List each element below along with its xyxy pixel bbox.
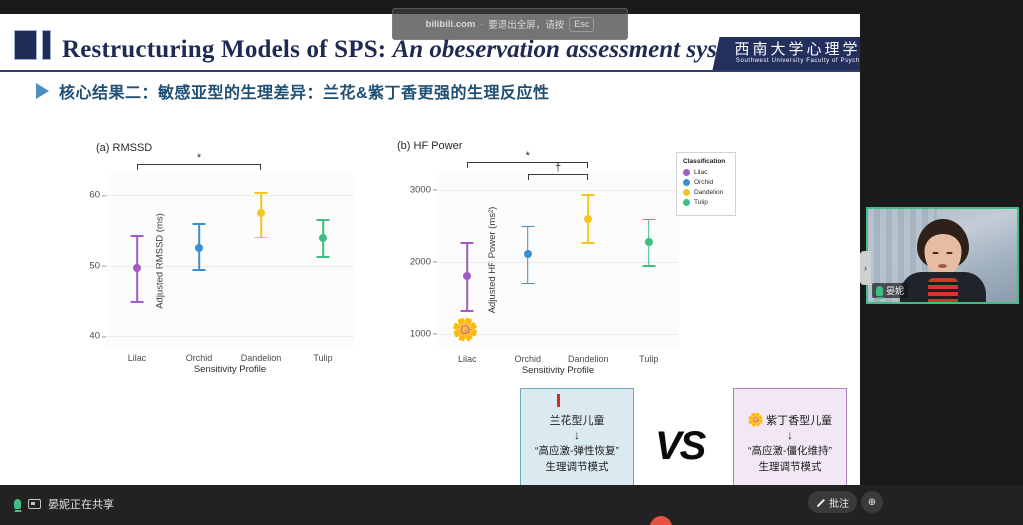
significance-symbol: * [526, 151, 530, 162]
error-bar-cap-upper [317, 219, 330, 221]
meeting-bottom-bar: 晏妮正在共享 批注 ⊕ [0, 485, 1023, 525]
mean-marker [463, 272, 471, 280]
chart-rmssd-xlabel: Sensitivity Profile [194, 364, 266, 375]
comparison-right-head-text: 紫丁香型儿童 [766, 412, 832, 428]
comparison-left-arrow: ↓ [574, 429, 580, 442]
comparison-left-head: 兰花型儿童 [550, 412, 605, 428]
slide-title-italic: An obeservation assessment system [393, 36, 755, 63]
video-participant-name: 晏妮 [886, 284, 904, 297]
pencil-icon [816, 498, 825, 507]
video-name-label: 晏妮 [872, 283, 908, 298]
error-bar-cap-upper [193, 223, 206, 225]
fullscreen-exit-toast: bilibili.com - 要退出全屏，请按 Esc [392, 8, 628, 40]
x-tick-label-dandelion: Dandelion [241, 353, 282, 363]
legend-swatch-lilac [683, 169, 690, 176]
y-tick-label: 60 [89, 190, 100, 201]
chart-rmssd-title: (a) RMSSD [96, 142, 152, 154]
data-point-dandelion [246, 174, 276, 347]
significance-symbol: * [197, 153, 201, 164]
y-tick-label: 50 [89, 260, 100, 271]
legend-label: Lilac [694, 169, 707, 176]
triangle-right-icon [36, 83, 49, 99]
chart-hf-power-ylabel: Adjusted HF Power (ms²) [487, 207, 498, 314]
significance-bracket: * [467, 162, 588, 168]
lilac-flower-icon: 🌼 [452, 319, 479, 341]
data-point-orchid [513, 172, 543, 348]
error-bar-cap-lower [642, 265, 655, 267]
x-tick-label-dandelion: Dandelion [568, 354, 609, 364]
share-toolbar: 批注 ⊕ [808, 491, 883, 513]
error-bar-cap-upper [461, 242, 474, 244]
error-bar-cap-upper [521, 226, 534, 228]
toast-message: 要退出全屏，请按 [488, 17, 564, 31]
slide-subtitle-row: 核心结果二：敏感亚型的生理差异：兰花&紫丁香更强的生理反应性 [0, 74, 860, 108]
comparison-box-lilac-type: 🌼 紫丁香型儿童 ↓ “高应激-僵化维持” 生理调节模式 [733, 388, 847, 485]
legend-swatch-dandelion [683, 189, 690, 196]
comparison-box-orchid-type: 兰花型儿童 ↓ “高应激-弹性恢复” 生理调节模式 [520, 388, 634, 485]
y-tick-label: 3000 [410, 184, 431, 195]
red-pointer-marker [557, 394, 560, 407]
significance-bracket: † [528, 174, 589, 180]
vs-label: VS [655, 424, 704, 469]
chart-hf-power: (b) HF Power Adjusted HF Power (ms²) 100… [385, 132, 685, 390]
slide-subtitle: 核心结果二：敏感亚型的生理差异：兰花&紫丁香更强的生理反应性 [59, 79, 550, 103]
legend-title: Classification [683, 158, 729, 165]
toast-site: bilibili.com [426, 19, 476, 30]
comparison-right-line1: “高应激-僵化维持” [748, 443, 832, 458]
error-bar-cap-upper [642, 219, 655, 221]
comparison-right-line2: 生理调节模式 [759, 459, 822, 474]
legend-items: LilacOrchidDandelionTulip [683, 169, 729, 206]
chart-hf-power-xlabel: Sensitivity Profile [522, 365, 594, 376]
comparison-right-arrow: ↓ [787, 429, 793, 442]
share-status-text: 晏妮正在共享 [48, 496, 114, 512]
video-person-eye-right [947, 252, 953, 254]
university-name-cn: 西南大学心理学部 [717, 38, 860, 59]
mean-marker [195, 244, 203, 252]
video-person-mouth [938, 264, 947, 268]
video-person-shirt [928, 278, 958, 302]
microphone-icon [14, 499, 21, 509]
legend-item-lilac: Lilac [683, 169, 729, 176]
error-bar-cap-lower [317, 256, 330, 258]
y-tick-label: 2000 [410, 256, 431, 267]
comparison-left-line2: 生理调节模式 [546, 459, 609, 474]
university-badge: 西南大学心理学部 Southwest University Faculty of… [712, 37, 860, 70]
x-tick-label-tulip: Tulip [313, 353, 332, 363]
error-bar-cap-upper [582, 194, 595, 196]
video-tile-active-speaker[interactable]: 晏妮 [866, 207, 1019, 304]
x-tick-label-orchid: Orchid [514, 354, 541, 364]
x-tick-label-orchid: Orchid [186, 353, 213, 363]
mean-marker [524, 250, 532, 258]
chevron-right-icon[interactable]: › [860, 251, 871, 285]
mean-marker [257, 209, 265, 217]
data-point-dandelion [573, 172, 603, 348]
data-point-tulip [308, 174, 338, 347]
participant-video-panel: 晏妮 › [860, 14, 1023, 485]
legend-label: Tulip [694, 199, 708, 206]
slide-title-main: Restructuring Models of SPS: [62, 36, 386, 63]
x-tick-label-tulip: Tulip [639, 354, 658, 364]
error-bar-cap-lower [131, 301, 144, 303]
significance-symbol: † [555, 163, 561, 174]
x-tick-label-lilac: Lilac [458, 354, 477, 364]
legend-item-orchid: Orchid [683, 179, 729, 186]
error-bar-cap-lower [521, 283, 534, 285]
magnifier-icon[interactable]: ⊕ [861, 491, 883, 513]
x-tick-label-lilac: Lilac [128, 353, 147, 363]
comparison-right-head: 🌼 紫丁香型儿童 [748, 412, 832, 428]
slide-logo-mark [14, 30, 51, 60]
error-bar-cap-lower [461, 310, 474, 312]
error-bar-cap-lower [582, 242, 595, 244]
legend-swatch-orchid [683, 179, 690, 186]
zoom-meeting-window: Restructuring Models of SPS: An obeserva… [0, 0, 1023, 525]
significance-bracket: * [137, 164, 261, 170]
shared-screen-slide: Restructuring Models of SPS: An obeserva… [0, 14, 860, 485]
slide-title: Restructuring Models of SPS: An obeserva… [62, 36, 754, 64]
share-status: 晏妮正在共享 [14, 496, 114, 512]
legend-item-tulip: Tulip [683, 199, 729, 206]
toast-esc-key: Esc [569, 17, 594, 32]
data-point-orchid [184, 174, 214, 347]
data-point-tulip [634, 172, 664, 348]
data-point-lilac [122, 174, 152, 347]
chart-hf-power-plot: Adjusted HF Power (ms²) 100020003000 Lil… [437, 172, 679, 348]
video-person-eye-left [932, 252, 938, 254]
chart-rmssd-plot: Adjusted RMSSD (ms) 405060 LilacOrchidDa… [106, 174, 354, 347]
legend-label: Dandelion [694, 189, 723, 196]
chart-legend: Classification LilacOrchidDandelionTulip [676, 152, 736, 216]
error-bar-cap-lower [193, 269, 206, 271]
chart-hf-power-title: (b) HF Power [397, 140, 462, 152]
error-bar-cap-upper [131, 235, 144, 237]
lilac-flower-icon: 🌼 [748, 412, 764, 428]
mean-marker [319, 234, 327, 242]
error-bar-cap-lower [255, 237, 268, 239]
university-name-en: Southwest University Faculty of Psycholo… [717, 58, 860, 64]
error-bar-cap-upper [255, 192, 268, 194]
microphone-icon [876, 286, 883, 296]
annotate-button[interactable]: 批注 [808, 491, 857, 513]
mean-marker [645, 238, 653, 246]
annotate-label: 批注 [829, 495, 849, 510]
toast-separator: - [480, 19, 483, 29]
legend-label: Orchid [694, 179, 713, 186]
mean-marker [584, 215, 592, 223]
chart-rmssd: (a) RMSSD Adjusted RMSSD (ms) 405060 Lil… [48, 134, 358, 389]
legend-item-dandelion: Dandelion [683, 189, 729, 196]
chart-rmssd-ylabel: Adjusted RMSSD (ms) [154, 213, 165, 309]
screen-share-icon [28, 499, 41, 509]
legend-swatch-tulip [683, 199, 690, 206]
comparison-left-line1: “高应激-弹性恢复” [535, 443, 619, 458]
y-tick-label: 1000 [410, 328, 431, 339]
mean-marker [133, 264, 141, 272]
y-tick-label: 40 [89, 331, 100, 342]
